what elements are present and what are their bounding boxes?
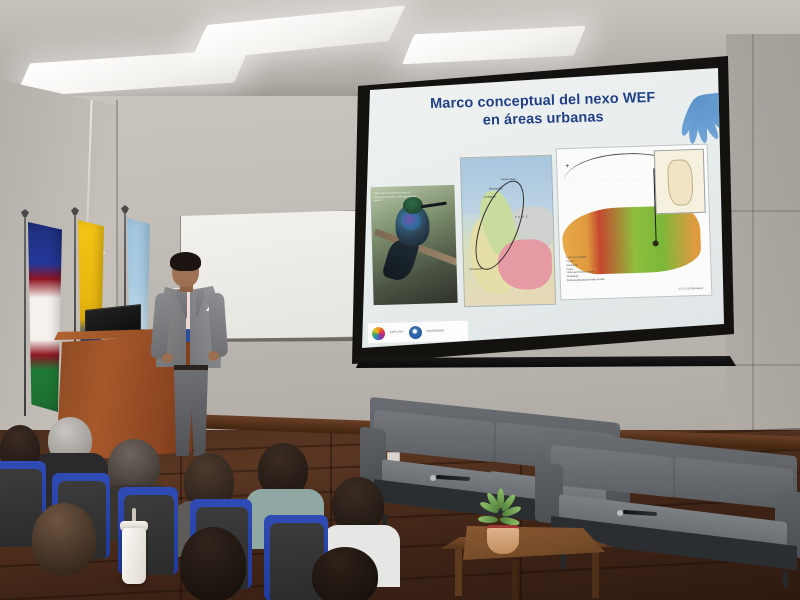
table-leg: [455, 548, 462, 596]
audience-head: [180, 527, 246, 600]
map-legend: Land cover (2020) Forest Shrubland Crops…: [566, 253, 677, 284]
tumbler: [122, 528, 146, 584]
institution-logo: [408, 325, 421, 338]
sunburst-logo: [372, 326, 385, 339]
slide-title: Marco conceptual del nexo WEF en áreas u…: [398, 88, 689, 133]
map-scale-bar: 0 2.5 5 10 Kilometers: [679, 287, 704, 291]
projection-screen-bottom-bar: [356, 356, 736, 368]
presentation-slide: Marco conceptual del nexo WEF en áreas u…: [362, 68, 724, 348]
conference-room-photo: Marco conceptual del nexo WEF en áreas u…: [0, 0, 800, 600]
sofa-right: [535, 443, 800, 591]
table-leg: [592, 552, 599, 598]
plant-pot: [487, 525, 519, 554]
audience-area: [0, 395, 400, 600]
table-leg: [512, 560, 518, 600]
audience-head: [312, 547, 378, 600]
hummingbird-caption: Colibrí especie observada Área de influe…: [374, 191, 418, 203]
land-use-map: + Land cover (2020) Forest Shrubland Cro…: [556, 144, 713, 301]
slide-logos: EDIFI UNIV UNIVERSIDAD: [368, 321, 469, 344]
sunburst-logo-text: EDIFI UNIV: [390, 331, 404, 335]
institution-logo-text: UNIVERSIDAD: [426, 329, 444, 333]
hummingbird-photo: Colibrí especie observada Área de influe…: [370, 185, 457, 305]
regional-map: V E N E ECUADOR Santa Marta Barranquilla…: [460, 155, 556, 308]
north-arrow: +: [565, 163, 569, 170]
audience-head: [32, 503, 96, 575]
